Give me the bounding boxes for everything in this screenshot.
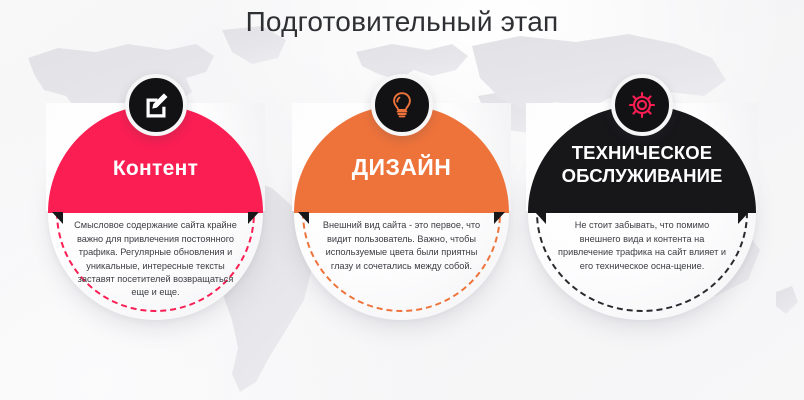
lightbulb-icon[interactable] (371, 74, 433, 136)
card-design[interactable]: ДИЗАЙН Внешний вид сайта - это первое, ч… (294, 105, 509, 320)
fold-triangle-right (248, 212, 259, 224)
fold-triangle-left (52, 212, 63, 224)
card-body-text: Смысловое содержание сайта крайне важно … (70, 219, 241, 299)
fold-triangle-left (298, 212, 309, 224)
card-row: Контент Смысловое содержание сайта крайн… (0, 57, 804, 367)
page-title: Подготовительный этап (0, 3, 804, 41)
infographic-canvas: Подготовительный этап Контент Смысловое … (0, 0, 804, 400)
fold-triangle-left (535, 212, 546, 224)
gear-icon[interactable] (611, 74, 673, 136)
card-heading: ДИЗАЙН (294, 155, 509, 180)
card-heading: Контент (48, 157, 263, 181)
card-body-text: Внешний вид сайта - это первое, что види… (316, 219, 487, 273)
edit-pencil-square-icon[interactable] (125, 74, 187, 136)
card-body-text: Не стоит забывать, что помимо внешнего в… (554, 219, 730, 273)
fold-triangle-right (738, 212, 749, 224)
card-content[interactable]: Контент Смысловое содержание сайта крайн… (48, 105, 263, 320)
card-heading: ТЕХНИЧЕСКОЕ ОБСЛУЖИВАНИЕ (528, 141, 756, 187)
card-maintenance[interactable]: ТЕХНИЧЕСКОЕ ОБСЛУЖИВАНИЕ Не стоит забыва… (528, 105, 756, 320)
fold-triangle-right (494, 212, 505, 224)
